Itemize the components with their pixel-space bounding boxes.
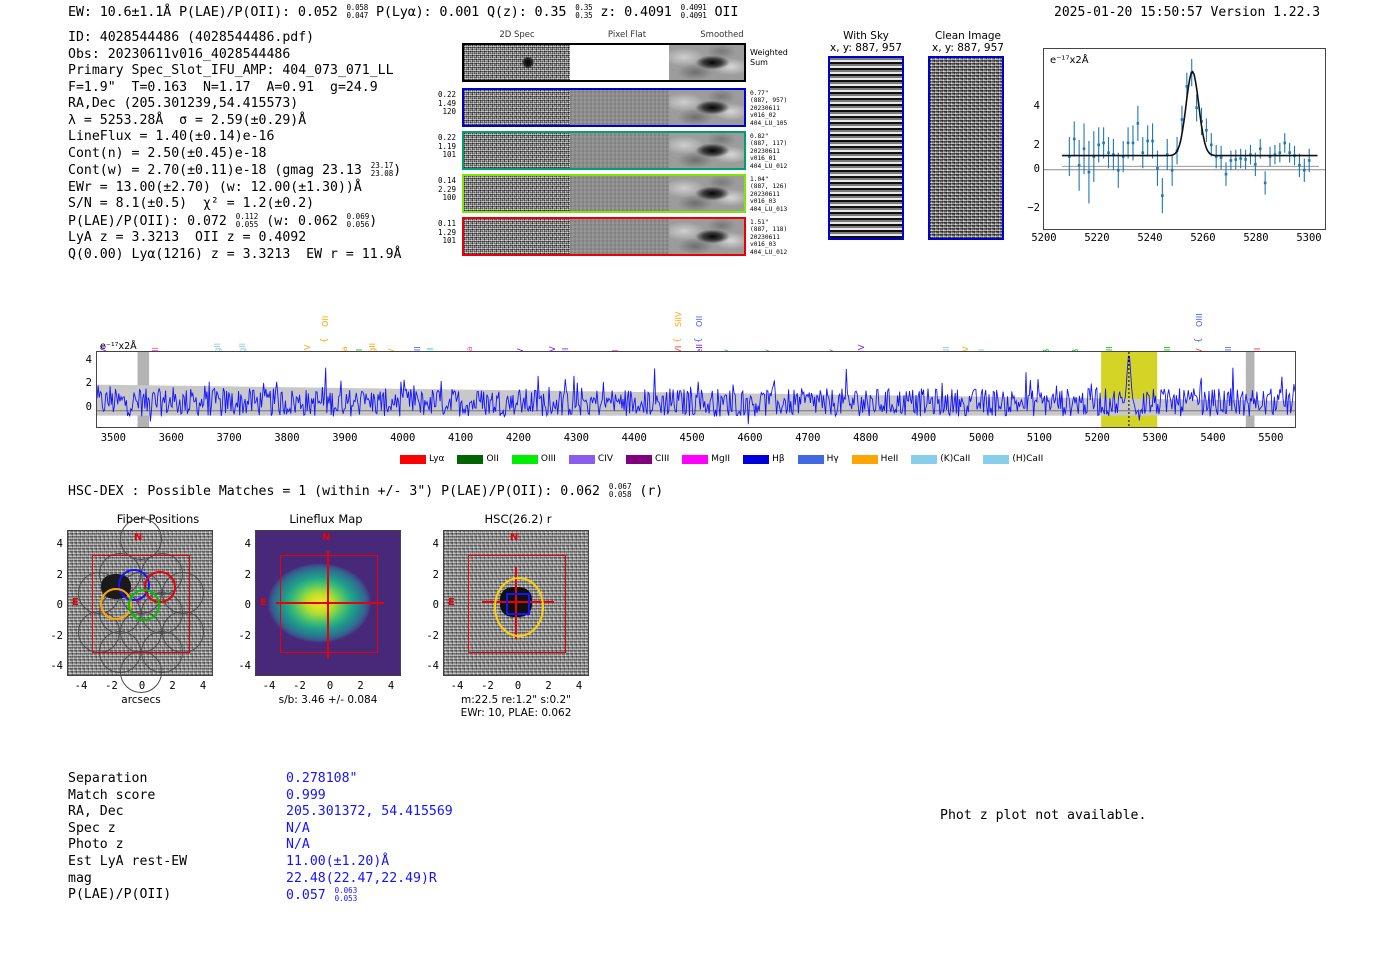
main-ytick-4: 4 [72,354,92,366]
lineflux-map-caption: s/b: 3.46 +/- 0.084 [245,694,411,707]
source-star-marker: ✳ [136,597,141,607]
legend-item-h: Hβ [743,454,785,464]
legend-label: CIII [655,454,669,464]
match-value-spec-z: N/A [286,821,310,838]
main-xtick-3500: 3500 [91,432,135,444]
main-xtick-5200: 5200 [1075,432,1119,444]
column-header-2dspec: 2D Spec [462,30,572,40]
weighted-sum-smoothed [669,45,744,80]
fiber-row-2-meta: 0.82" (887, 117) 20230611 v016_01 404_LU… [750,133,787,170]
fiber-positions-image[interactable]: ✳ [67,530,213,676]
compass-north-lineflux: N [322,532,330,543]
main-xtick-5300: 5300 [1133,432,1177,444]
info-line-sn: S/N = 8.1(±0.5) χ² = 1.2(±0.2) [68,196,401,213]
panel-xtick: 4 [183,680,223,692]
info-line-seeing: F=1.9" T=0.163 N=1.17 A=0.91 g=24.9 [68,80,401,97]
legend-item-kcaii: (K)CaII [911,454,970,464]
fiber-3-2dspec [464,176,570,211]
zoom-xtick-5280: 5280 [1236,232,1276,244]
legend-label: Lyα [429,454,444,464]
spec2d-panel-group: 2D Spec Pixel Flat Smoothed WeightedSum … [430,30,760,245]
line-label-oiii: OIII [1194,313,1204,327]
lineflux-red-box [280,555,378,653]
hsc-plae-errors: 0.0670.058 [609,483,632,499]
main-spectrum-units: e⁻¹⁷x2Å [100,341,137,352]
info-line-radec: RA,Dec (205.301239,54.415573) [68,96,401,113]
header-summary-mid: P(Lyα): 0.001 Q(z): 0.35 [368,4,574,20]
info-plae-w-errors: 0.0690.056 [347,213,370,229]
match-label-separation: Separation [68,771,147,788]
panel-xtick: 4 [559,680,599,692]
main-xtick-3800: 3800 [265,432,309,444]
main-xtick-4100: 4100 [439,432,483,444]
main-xtick-4700: 4700 [786,432,830,444]
line-label-oii: OII [320,316,330,327]
spectrum-legend: LyαOIIOIIICIVCIIIMgIIHβHγHeII(K)CaII(H)C… [400,454,1052,464]
fiber-4-pixelflat [570,219,670,254]
info-line-id: ID: 4028544486 (4028544486.pdf) [68,30,401,47]
line-zoom-svg: e⁻¹⁷x2Å [1044,49,1325,229]
info-line-plae: P(LAE)/P(OII): 0.072 0.1120.055 (w: 0.06… [68,213,401,230]
weighted-sum-label: WeightedSum [750,48,788,67]
legend-item-civ: CIV [569,454,613,464]
match-value-mag: 22.48(22.47,22.49)R [286,871,437,888]
weighted-sum-strip [462,43,746,82]
panel-ytick: 0 [39,599,63,611]
legend-label: MgII [711,454,730,464]
compass-east-fiber: E [72,597,79,608]
legend-swatch [911,455,937,464]
full-spectrum-plot[interactable] [96,351,1296,428]
match-plae-errors: 0.0630.053 [335,887,358,903]
fiber-row-2-stats: 0.22 1.19 101 [430,134,456,160]
legend-swatch [626,455,652,464]
fiber-4-2dspec [464,219,570,254]
fiber-row-3-strip [462,174,746,213]
legend-item-ciii: CIII [626,454,669,464]
panel-ytick: 0 [227,599,251,611]
panel-title-lineflux-map: Lineflux Map [246,512,406,526]
main-spectrum-xticks: 3500360037003800390040004100420043004400… [0,430,1400,448]
photz-message: Phot z plot not available. [940,808,1146,823]
legend-label: (H)CaII [1012,454,1043,464]
legend-swatch [852,455,878,464]
compass-east-lineflux: E [260,597,267,608]
match-label-spec-z: Spec z [68,821,116,838]
legend-item-ly: Lyα [400,454,444,464]
zoom-xtick-5300: 5300 [1289,232,1329,244]
header-summary-text: EW: 10.6±1.1Å P(LAE)/P(OII): 0.052 [68,4,345,20]
zoom-xtick-5200: 5200 [1024,232,1064,244]
legend-swatch [798,455,824,464]
zoom-ytick-2: 2 [1016,139,1040,151]
main-xtick-4600: 4600 [728,432,772,444]
header-summary-tail: OII [707,4,739,20]
info-line-ewr: EWr = 13.00(±2.70) (w: 12.00(±1.30))Å [68,180,401,197]
main-ytick-0: 0 [72,401,92,413]
line-brace: { [320,338,330,343]
panel-ytick: -2 [415,630,439,642]
zoom-plot-units: e⁻¹⁷x2Å [1050,53,1089,66]
weighted-sum-pixelflat [570,45,670,80]
match-value-est-lya-rest-ew: 11.00(±1.20)Å [286,854,389,871]
legend-item-hcaii: (H)CaII [983,454,1043,464]
fiber-row-1-meta: 0.77" (887, 957) 20230611 v016_02 404_LU… [750,90,787,127]
panel-title-hsc-r: HSC(26.2) r [438,512,598,526]
column-header-smoothed: Smoothed [682,30,762,40]
legend-item-h: Hγ [798,454,839,464]
zoom-ytick-0: 0 [1016,163,1040,175]
panel-ytick: 0 [415,599,439,611]
match-value-ra-dec: 205.301372, 54.415569 [286,804,453,821]
line-brace: { [1194,338,1204,343]
info-line-cont-w: Cont(w) = 2.70(±0.11)e-18 (gmag 23.13 23… [68,162,401,179]
line-zoom-plot[interactable]: e⁻¹⁷x2Å [1043,48,1326,230]
match-label-p-lae-p-oii-: P(LAE)/P(OII) [68,887,171,904]
line-brace: { [694,338,704,343]
fiber-2-2dspec [464,133,570,168]
fiber-row-1-stats: 0.22 1.49 120 [430,91,456,117]
info-line-primary-spec: Primary Spec_Slot_IFU_AMP: 404_073_071_L… [68,63,401,80]
column-header-pixelflat: Pixel Flat [572,30,682,40]
match-value-separation: 0.278108" [286,771,357,788]
legend-swatch [743,455,769,464]
with-sky-title: With Skyx, y: 887, 957 [826,30,906,54]
line-label-oii: OII [694,316,704,327]
main-xtick-3900: 3900 [323,432,367,444]
legend-swatch [457,455,483,464]
panel-ytick: -4 [39,660,63,672]
fiber-row-2-strip [462,131,746,170]
legend-item-oiii: OIII [512,454,556,464]
legend-item-heii: HeII [852,454,899,464]
legend-item-oii: OII [457,454,498,464]
match-label-mag: mag [68,871,92,888]
info-line-lineflux: LineFlux = 1.40(±0.14)e-16 [68,129,401,146]
panel-ytick: -4 [227,660,251,672]
panel-ytick: -2 [227,630,251,642]
match-label-photo-z: Photo z [68,837,124,854]
panel-ytick: 2 [39,569,63,581]
legend-label: CIV [598,454,613,464]
legend-label: OII [486,454,498,464]
z-errors: 0.40910.4091 [681,4,707,20]
info-line-classification: Q(0.00) Lyα(1216) z = 3.3213 EW r = 11.9… [68,247,401,264]
main-xtick-4500: 4500 [670,432,714,444]
match-value-match-score: 0.999 [286,788,326,805]
main-xtick-5400: 5400 [1191,432,1235,444]
panel-ytick: 4 [227,538,251,550]
emission-blob [521,57,535,68]
weighted-sum-2dspec [464,45,570,80]
panel-ytick: 4 [415,538,439,550]
legend-label: Hγ [827,454,839,464]
zoom-xtick-5240: 5240 [1130,232,1170,244]
compass-east-hsc: E [448,597,455,608]
fiber-2-smoothed [669,133,744,168]
main-xtick-4400: 4400 [612,432,656,444]
lineflux-map-image[interactable] [255,530,401,676]
main-xtick-3700: 3700 [207,432,251,444]
main-xtick-4300: 4300 [554,432,598,444]
header-redshift: z: 0.4091 [592,4,679,20]
fiber-3-smoothed [669,176,744,211]
legend-label: HeII [881,454,899,464]
fiber-row-3-meta: 1.04" (887, 126) 20230611 v016_03 404_LU… [750,176,787,213]
main-xtick-4000: 4000 [381,432,425,444]
fiber-1-smoothed [669,90,744,125]
main-xtick-5100: 5100 [1017,432,1061,444]
fiber-1-pixelflat [570,90,670,125]
fiber-positions-caption: arcsecs [68,694,214,707]
fiber-marker-green [128,589,160,621]
hsc-dex-headline: HSC-DEX : Possible Matches = 1 (within +… [68,483,663,499]
fiber-row-4-meta: 1.51" (887, 118) 20230611 v016_03 404_LU… [750,219,787,256]
panel-xtick: 4 [371,680,411,692]
panel-ytick: 2 [227,569,251,581]
main-xtick-4800: 4800 [844,432,888,444]
legend-label: (K)CaII [940,454,970,464]
main-xtick-5000: 5000 [959,432,1003,444]
line-label-siiv: SiIV [673,312,683,328]
fiber-row-3-stats: 0.14 2.29 100 [430,177,456,203]
line-brace: { [673,338,683,343]
panel-ytick: -2 [39,630,63,642]
info-plae-errors: 0.1120.055 [236,213,259,229]
clean-image-title: Clean Imagex, y: 887, 957 [922,30,1014,54]
main-xtick-5500: 5500 [1249,432,1293,444]
legend-swatch [983,455,1009,464]
crosshair-horizontal [276,602,384,604]
fiber-3-pixelflat [570,176,670,211]
info-line-wavelength: λ = 5253.28Å σ = 2.59(±0.29)Å [68,113,401,130]
match-details-table: Separation0.278108"Match score0.999RA, D… [68,771,588,921]
compass-north-hsc: N [510,532,518,543]
main-ytick-2: 2 [72,377,92,389]
with-sky-cutout [828,56,904,240]
main-xtick-4200: 4200 [496,432,540,444]
match-label-est-lya-rest-ew: Est LyA rest-EW [68,854,187,871]
info-line-cont-n: Cont(n) = 2.50(±0.45)e-18 [68,146,401,163]
panel-ytick: -4 [415,660,439,672]
main-xtick-4900: 4900 [902,432,946,444]
hsc-r-caption: m:22.5 re:1.2" s:0.2"EWr: 10, PLAE: 0.06… [428,694,604,720]
fiber-row-4-stats: 0.11 1.29 101 [430,220,456,246]
zoom-ytick-m2: −2 [1011,202,1040,214]
fiber-row-4-strip [462,217,746,256]
match-label-match-score: Match score [68,788,155,805]
legend-swatch [512,455,538,464]
zoom-xtick-5260: 5260 [1183,232,1223,244]
full-spectrum-svg [97,352,1295,427]
main-xtick-3600: 3600 [149,432,193,444]
hsc-r-image[interactable] [443,530,589,676]
qz-errors: 0.350.35 [575,4,592,20]
match-label-ra-dec: RA, Dec [68,804,124,821]
header-summary-line: EW: 10.6±1.1Å P(LAE)/P(OII): 0.052 0.058… [68,4,738,20]
legend-swatch [682,455,708,464]
info-line-redshifts: LyA z = 3.3213 OII z = 0.4092 [68,230,401,247]
fiber-row-1-strip [462,88,746,127]
zoom-ytick-4: 4 [1016,100,1040,112]
plae-ratio-errors: 0.0580.047 [346,4,368,20]
legend-swatch [400,455,426,464]
match-value-photo-z: N/A [286,837,310,854]
info-line-obs: Obs: 20230611v016_4028544486 [68,47,401,64]
panel-title-fiber-positions: Fiber Positions [63,512,253,526]
hsc-blue-box-marker [506,593,530,615]
emission-line-id-labels: OVI{CIII{MgII{MgII{SiIV{OII{Lya{OII{MgII… [0,268,1400,353]
fiber-2-pixelflat [570,133,670,168]
crosshair-vertical [327,551,329,659]
panel-ytick: 2 [415,569,439,581]
zoom-xtick-5220: 5220 [1077,232,1117,244]
fiber-4-smoothed [669,219,744,254]
source-info-block: ID: 4028544486 (4028544486.pdf) Obs: 202… [68,30,401,263]
fiber-1-2dspec [464,90,570,125]
panel-ytick: 4 [39,538,63,550]
timestamp-version: 2025-01-20 15:50:57 Version 1.22.3 [1054,5,1320,20]
gmag-errors: 23.1723.08 [371,162,394,178]
legend-label: OIII [541,454,556,464]
match-value-p-lae-p-oii-: 0.057 0.0630.053 [286,887,357,904]
clean-image-cutout [928,56,1004,240]
legend-label: Hβ [772,454,785,464]
compass-north-fiber: N [134,532,142,543]
legend-swatch [569,455,595,464]
legend-item-mgii: MgII [682,454,730,464]
